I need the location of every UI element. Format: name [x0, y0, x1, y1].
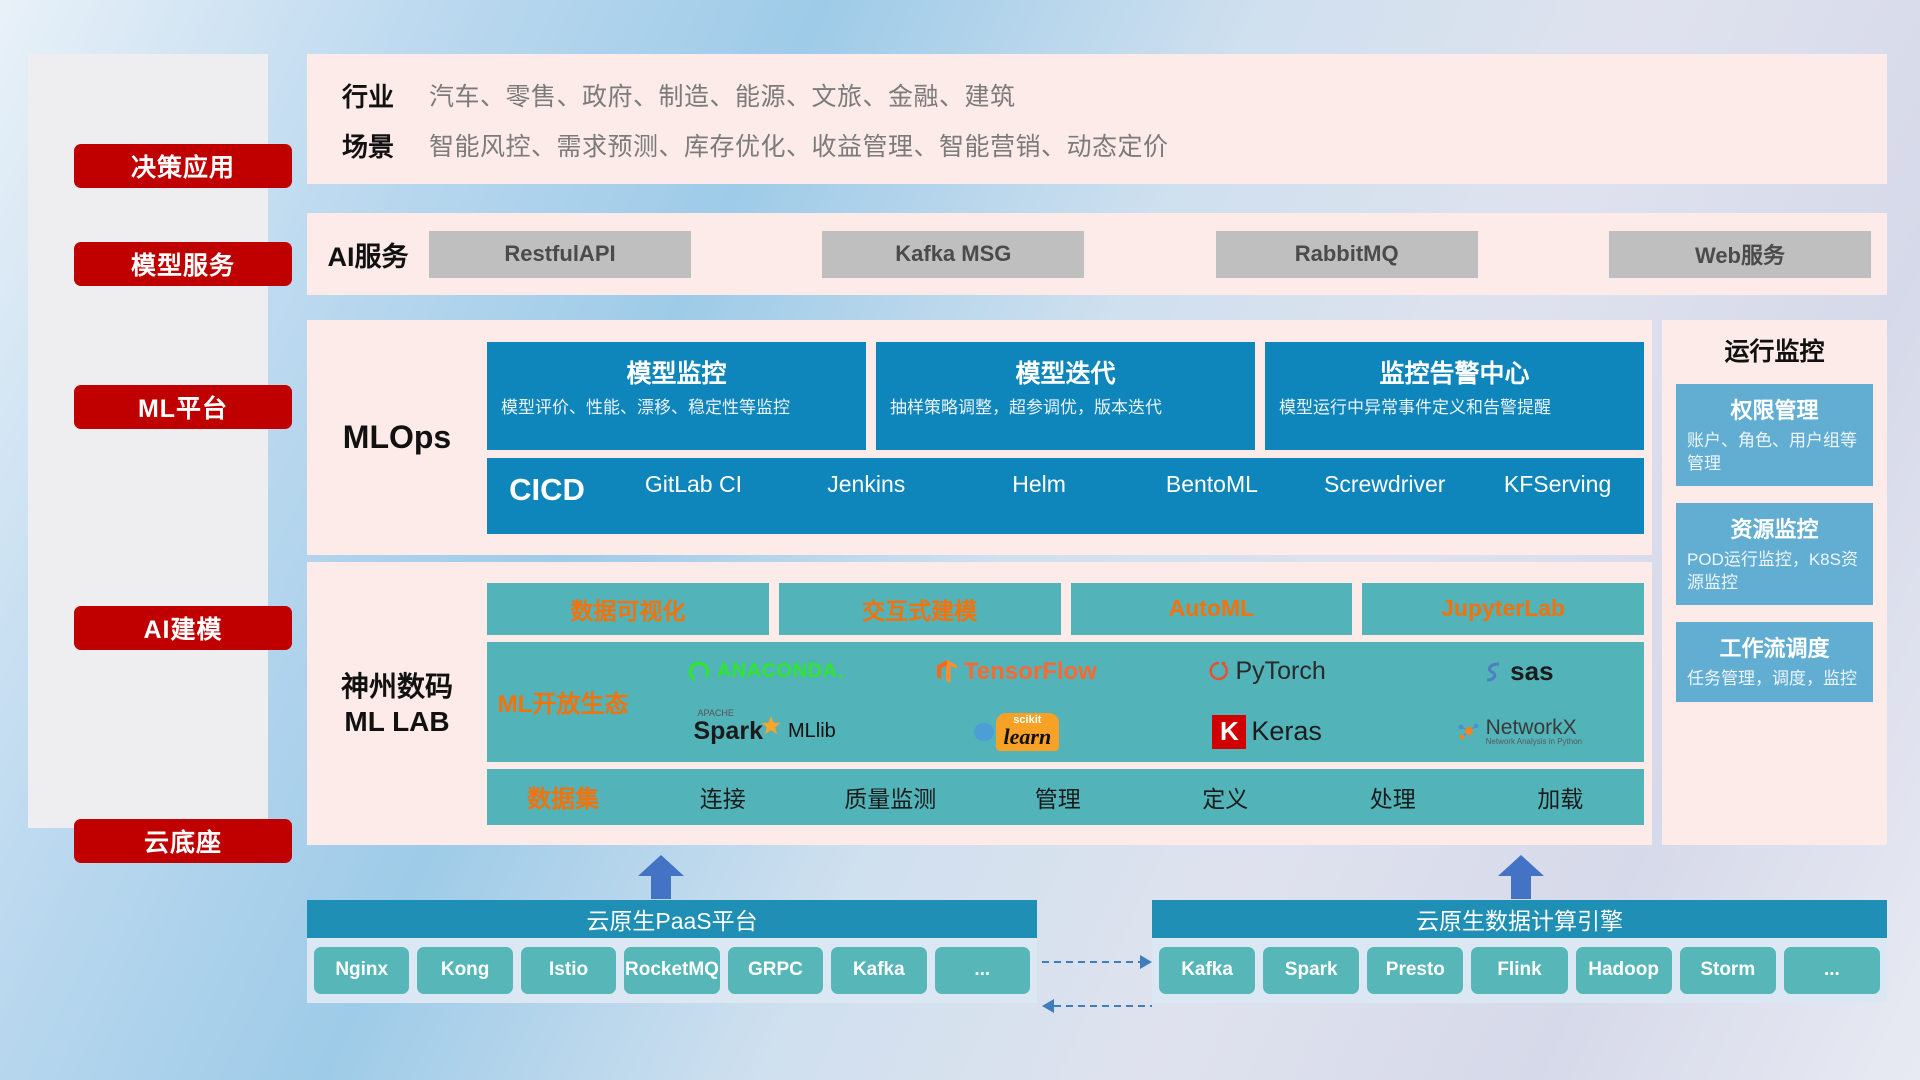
- data-engine-stack: 云原生数据计算引擎 Kafka Spark Presto Flink Hadoo…: [1152, 900, 1887, 1003]
- dataset-item-quality-monitoring[interactable]: 质量监测: [807, 780, 975, 814]
- card-desc: 账户、角色、用户组等管理: [1687, 430, 1862, 475]
- cicd-item-bentoml[interactable]: BentoML: [1125, 472, 1298, 498]
- diagram-canvas: 决策应用 模型服务 ML平台 AI建模 云底座 行业 汽车、零售、政府、制造、能…: [0, 0, 1920, 1080]
- dataset-item-process[interactable]: 处理: [1309, 780, 1477, 814]
- paas-chip-nginx[interactable]: Nginx: [314, 947, 409, 994]
- mlops-band: MLOps 模型监控 模型评价、性能、漂移、稳定性等监控 模型迭代 抽样策略调整…: [307, 320, 1652, 555]
- service-item-kafka-msg[interactable]: Kafka MSG: [822, 231, 1084, 278]
- mlops-card-model-monitoring[interactable]: 模型监控 模型评价、性能、漂移、稳定性等监控: [487, 342, 866, 450]
- dataset-title: 数据集: [487, 779, 639, 814]
- scenario-label: 场景: [307, 127, 429, 164]
- paas-chip-kong[interactable]: Kong: [417, 947, 512, 994]
- mlops-label: MLOps: [307, 419, 487, 456]
- learn-label: learn: [1004, 726, 1052, 748]
- engine-chip-hadoop[interactable]: Hadoop: [1576, 947, 1672, 994]
- industry-values: 汽车、零售、政府、制造、能源、文旅、金融、建筑: [429, 77, 1016, 113]
- ml-lab-label-line1: 神州数码: [307, 669, 487, 704]
- card-desc: 任务管理，调度，监控: [1687, 668, 1862, 691]
- card-title: 监控告警中心: [1279, 354, 1630, 390]
- ml-lab-label-line2: ML LAB: [307, 704, 487, 739]
- mlops-card-alert-center[interactable]: 监控告警中心 模型运行中异常事件定义和告警提醒: [1265, 342, 1644, 450]
- sas-label: sas: [1510, 656, 1553, 687]
- application-band: 行业 汽车、零售、政府、制造、能源、文旅、金融、建筑 场景 智能风控、需求预测、…: [307, 54, 1887, 184]
- monitor-card-resource[interactable]: 资源监控 POD运行监控，K8S资源监控: [1676, 503, 1873, 605]
- dataset-row: 数据集 连接 质量监测 管理 定义 处理 加载: [487, 769, 1644, 825]
- service-item-rabbitmq[interactable]: RabbitMQ: [1216, 231, 1478, 278]
- scikit-learn-logo: scikit learn: [973, 713, 1060, 751]
- ai-service-band: AI服务 RestfulAPI Kafka MSG RabbitMQ Web服务: [307, 213, 1887, 295]
- scenario-values: 智能风控、需求预测、库存优化、收益管理、智能营销、动态定价: [429, 127, 1169, 163]
- card-desc: 模型运行中异常事件定义和告警提醒: [1279, 397, 1630, 420]
- rail-tag-cloud-base[interactable]: 云底座: [74, 819, 292, 863]
- mllib-label: MLlib: [788, 720, 836, 743]
- ai-service-label: AI服务: [307, 235, 429, 274]
- spark-mllib-logo: APACHE Spark MLlib: [693, 717, 835, 746]
- stack-connector-arrows: [1040, 950, 1155, 1020]
- paas-stack: 云原生PaaS平台 Nginx Kong Istio RocketMQ GRPC…: [307, 900, 1037, 1003]
- engine-chip-spark[interactable]: Spark: [1263, 947, 1359, 994]
- rail-tag-decision-app[interactable]: 决策应用: [74, 144, 292, 188]
- lab-tool-data-visualization[interactable]: 数据可视化: [487, 583, 769, 635]
- dataset-item-connect[interactable]: 连接: [639, 780, 807, 814]
- monitor-card-permission[interactable]: 权限管理 账户、角色、用户组等管理: [1676, 384, 1873, 486]
- up-arrow-data-engine: [1498, 855, 1544, 899]
- card-title: 模型迭代: [890, 354, 1241, 390]
- card-title: 模型监控: [501, 354, 852, 390]
- mlops-card-model-iteration[interactable]: 模型迭代 抽样策略调整，超参调优，版本迭代: [876, 342, 1255, 450]
- anaconda-logo: ANACONDA.: [686, 659, 844, 685]
- spark-label: Spark: [693, 717, 762, 746]
- keras-logo: K Keras: [1212, 715, 1322, 749]
- dataset-item-load[interactable]: 加载: [1477, 780, 1645, 814]
- tensorflow-label: TensorFlow: [964, 658, 1097, 686]
- engine-chip-flink[interactable]: Flink: [1471, 947, 1567, 994]
- rail-tag-ml-platform[interactable]: ML平台: [74, 385, 292, 429]
- monitor-panel-title: 运行监控: [1676, 332, 1873, 368]
- up-arrow-paas: [638, 855, 684, 899]
- card-desc: 抽样策略调整，超参调优，版本迭代: [890, 397, 1241, 420]
- rail-tag-ai-modeling[interactable]: AI建模: [74, 606, 292, 650]
- service-item-web[interactable]: Web服务: [1609, 231, 1871, 278]
- ml-lab-label: 神州数码 ML LAB: [307, 669, 487, 739]
- tensorflow-logo: TensorFlow: [935, 658, 1097, 686]
- paas-stack-header: 云原生PaaS平台: [307, 900, 1037, 938]
- rail-tag-model-service[interactable]: 模型服务: [74, 242, 292, 286]
- engine-chip-more[interactable]: ...: [1784, 947, 1880, 994]
- lab-tool-jupyterlab[interactable]: JupyterLab: [1362, 583, 1644, 635]
- card-desc: 模型评价、性能、漂移、稳定性等监控: [501, 397, 852, 420]
- paas-chip-kafka[interactable]: Kafka: [831, 947, 926, 994]
- industry-row: 行业 汽车、零售、政府、制造、能源、文旅、金融、建筑: [307, 70, 1887, 120]
- engine-chip-kafka[interactable]: Kafka: [1159, 947, 1255, 994]
- monitor-card-workflow[interactable]: 工作流调度 任务管理，调度，监控: [1676, 622, 1873, 702]
- cicd-item-kfserving[interactable]: KFServing: [1471, 472, 1644, 498]
- cicd-title: CICD: [487, 472, 607, 508]
- cicd-row: CICD GitLab CI Jenkins Helm BentoML Scre…: [487, 458, 1644, 534]
- paas-chip-grpc[interactable]: GRPC: [728, 947, 823, 994]
- paas-chip-rocketmq[interactable]: RocketMQ: [624, 947, 719, 994]
- paas-chip-istio[interactable]: Istio: [521, 947, 616, 994]
- sas-logo: sas: [1483, 656, 1553, 687]
- monitor-panel: 运行监控 权限管理 账户、角色、用户组等管理 资源监控 POD运行监控，K8S资…: [1662, 320, 1887, 845]
- cicd-item-gitlab-ci[interactable]: GitLab CI: [607, 472, 780, 498]
- keras-label: Keras: [1251, 716, 1322, 747]
- networkx-tagline: Network Analysis in Python: [1486, 738, 1583, 746]
- engine-chip-storm[interactable]: Storm: [1680, 947, 1776, 994]
- card-title: 工作流调度: [1687, 631, 1862, 663]
- ml-lab-band: 神州数码 ML LAB 数据可视化 交互式建模 AutoML JupyterLa…: [307, 562, 1652, 845]
- dataset-item-define[interactable]: 定义: [1142, 780, 1310, 814]
- card-title: 资源监控: [1687, 512, 1862, 544]
- lab-tool-automl[interactable]: AutoML: [1071, 583, 1353, 635]
- lab-tool-interactive-modeling[interactable]: 交互式建模: [779, 583, 1061, 635]
- card-desc: POD运行监控，K8S资源监控: [1687, 549, 1862, 594]
- networkx-logo: NetworkX Network Analysis in Python: [1455, 717, 1583, 746]
- keras-mark: K: [1212, 715, 1246, 749]
- left-rail: 决策应用 模型服务 ML平台 AI建模 云底座: [28, 54, 268, 828]
- pytorch-label: PyTorch: [1235, 657, 1325, 686]
- paas-chip-more[interactable]: ...: [935, 947, 1030, 994]
- anaconda-label: ANACONDA.: [717, 660, 844, 683]
- industry-label: 行业: [307, 77, 429, 114]
- service-item-restfulapi[interactable]: RestfulAPI: [429, 231, 691, 278]
- spark-apache-label: APACHE: [697, 708, 733, 718]
- pytorch-logo: PyTorch: [1208, 657, 1325, 686]
- cicd-item-helm[interactable]: Helm: [953, 472, 1126, 498]
- dataset-item-manage[interactable]: 管理: [974, 780, 1142, 814]
- ml-ecosystem-row: ML开放生态 ANACONDA.: [487, 642, 1644, 762]
- cicd-item-jenkins[interactable]: Jenkins: [780, 472, 953, 498]
- card-title: 权限管理: [1687, 393, 1862, 425]
- engine-chip-presto[interactable]: Presto: [1367, 947, 1463, 994]
- networkx-label: NetworkX: [1486, 717, 1583, 738]
- ml-ecosystem-title: ML开放生态: [487, 684, 639, 719]
- data-engine-stack-header: 云原生数据计算引擎: [1152, 900, 1887, 938]
- cicd-item-screwdriver[interactable]: Screwdriver: [1298, 472, 1471, 498]
- scenario-row: 场景 智能风控、需求预测、库存优化、收益管理、智能营销、动态定价: [307, 120, 1887, 170]
